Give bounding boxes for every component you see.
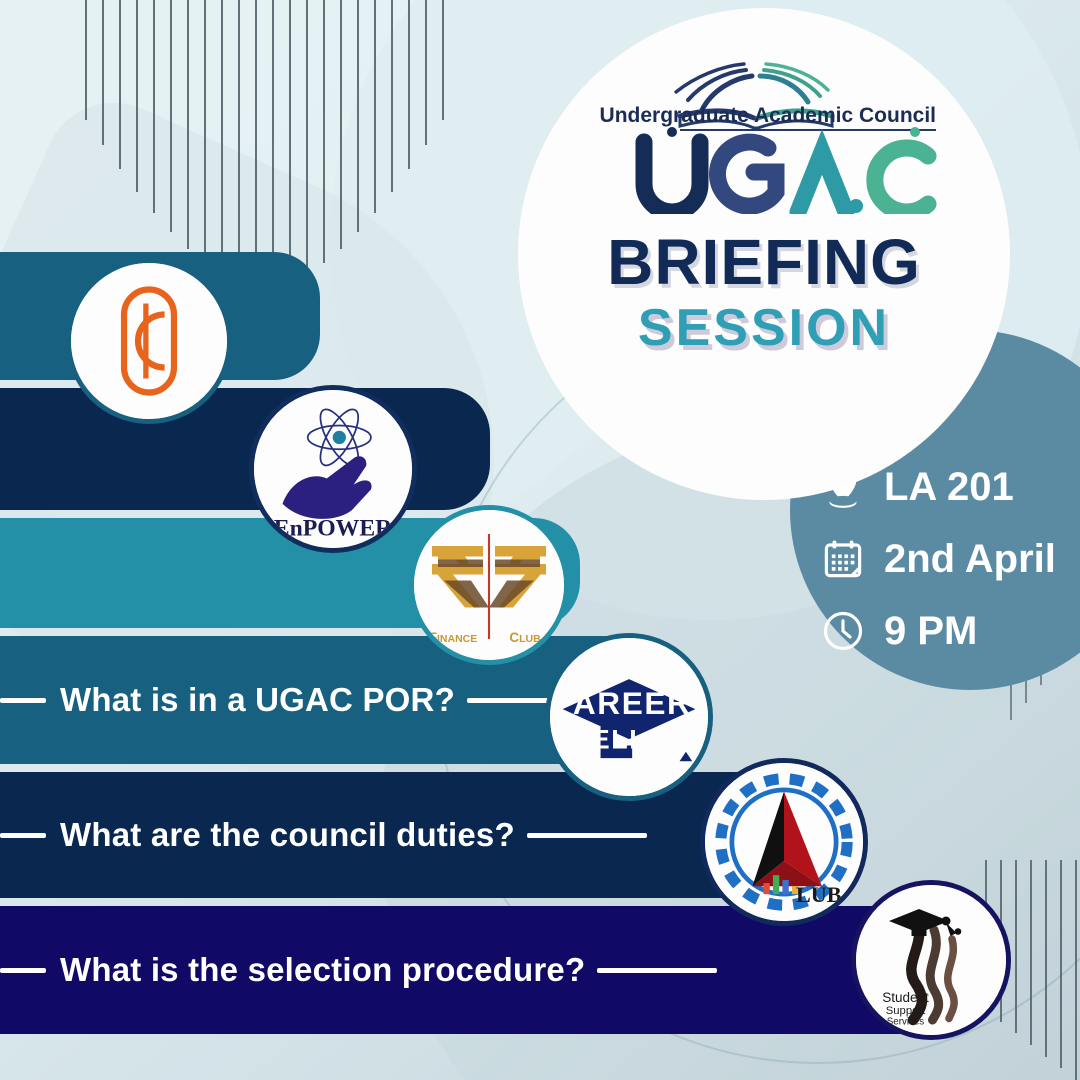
svg-text:Support: Support xyxy=(886,1005,926,1017)
career-cell-icon: AREER ELL xyxy=(550,638,708,796)
consulting-club-logo[interactable] xyxy=(66,258,232,424)
question-2-lead-line xyxy=(0,833,46,838)
svg-text:ELL: ELL xyxy=(592,725,647,755)
question-3-text: What is the selection procedure? xyxy=(60,951,585,989)
detail-time-value: 9 PM xyxy=(884,609,977,654)
consulting-club-icon xyxy=(71,263,227,419)
poster-canvas: What is in a UGAC POR? What are the coun… xyxy=(0,0,1080,1080)
analytics-club-icon: LUB xyxy=(705,763,863,921)
detail-row-time: 9 PM xyxy=(818,606,1056,656)
question-3-lead-line xyxy=(0,968,46,973)
svg-text:LUB: LUB xyxy=(796,882,842,907)
stair-band-2 xyxy=(0,388,490,510)
calendar-icon xyxy=(818,534,868,584)
svg-text:Undergraduate Academic Council: Undergraduate Academic Council xyxy=(600,104,936,127)
svg-text:AREER: AREER xyxy=(573,685,692,721)
question-2-trail-line xyxy=(527,833,647,838)
detail-venue-value: LA 201 xyxy=(884,465,1014,510)
svg-text:Student: Student xyxy=(882,990,929,1005)
svg-text:EnPOWER: EnPOWER xyxy=(274,515,393,541)
detail-date-value: 2nd April xyxy=(884,537,1056,582)
ugac-logo: Undergraduate Academic Council xyxy=(584,44,944,214)
question-2-text: What are the council duties? xyxy=(60,816,515,854)
enpower-club-icon: EnPOWER xyxy=(254,390,412,548)
svg-text:FINANCE: FINANCE xyxy=(429,630,478,645)
svg-text:CLUB: CLUB xyxy=(509,630,541,645)
question-1-text: What is in a UGAC POR? xyxy=(60,681,455,719)
analytics-club-logo[interactable]: LUB xyxy=(700,758,868,926)
hero-circle: Undergraduate Academic Council BRIEFING … xyxy=(518,8,1010,500)
detail-row-date: 2nd April xyxy=(818,534,1056,584)
hero-title-session: SESSION xyxy=(638,302,890,354)
event-details-list: LA 201 2 xyxy=(818,462,1056,678)
stair-band-2-fill xyxy=(0,388,490,510)
stair-band-6: What is the selection procedure? xyxy=(0,906,960,1034)
finance-club-logo[interactable]: FINANCE CLUB xyxy=(409,505,569,665)
clock-icon xyxy=(818,606,868,656)
question-3-trail-line xyxy=(597,968,717,973)
career-cell-logo[interactable]: AREER ELL xyxy=(545,633,713,801)
question-1-lead-line xyxy=(0,698,46,703)
finance-club-icon: FINANCE CLUB xyxy=(414,510,564,660)
svg-text:Services: Services xyxy=(887,1017,925,1028)
student-support-services-icon: Student Support Services xyxy=(856,885,1006,1035)
enpower-club-logo[interactable]: EnPOWER xyxy=(249,385,417,553)
stair-band-5: What are the council duties? xyxy=(0,772,800,898)
hero-title-briefing: BRIEFING xyxy=(607,230,921,294)
student-support-services-logo[interactable]: Student Support Services xyxy=(851,880,1011,1040)
